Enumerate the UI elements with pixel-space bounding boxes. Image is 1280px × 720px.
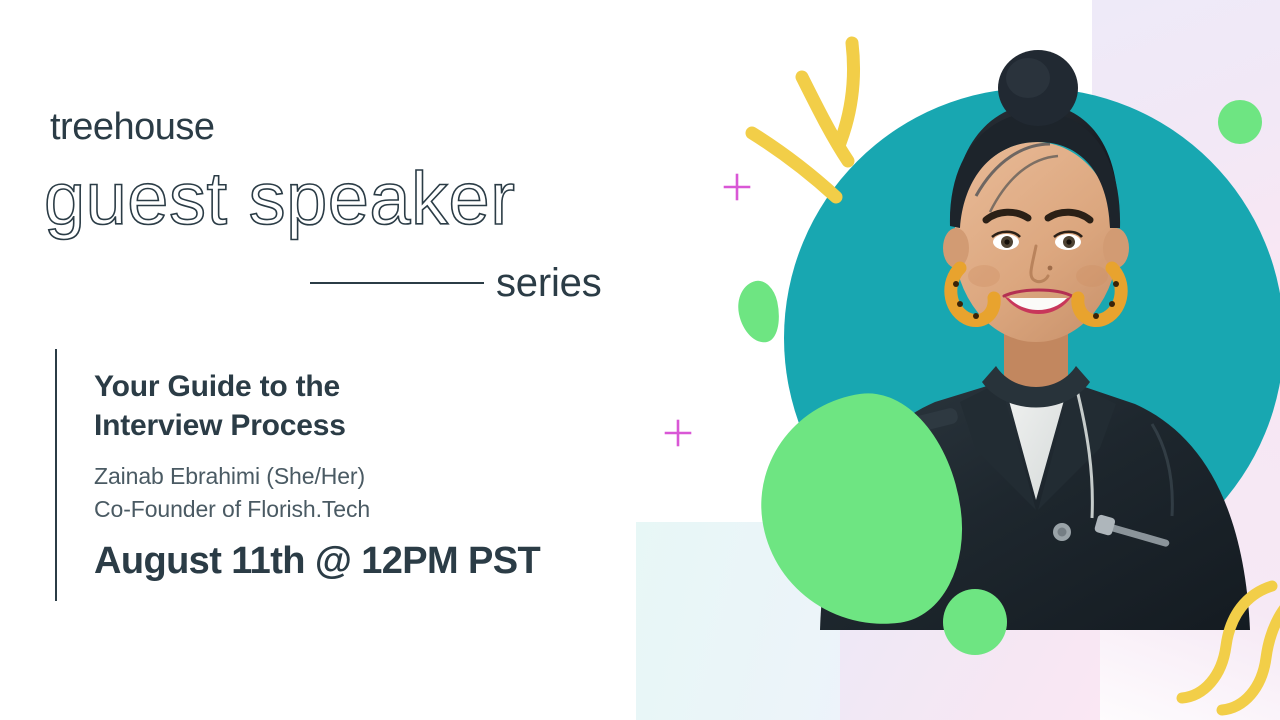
yellow-sparkle-strokes: [740, 25, 920, 215]
green-circle-bottom: [943, 589, 1007, 655]
speaker-name: Zainab Ebrahimi (She/Her): [94, 461, 635, 492]
event-details-block: Your Guide to the Interview Process Zain…: [55, 349, 635, 601]
event-details-inner: Your Guide to the Interview Process Zain…: [57, 349, 635, 583]
series-label: series: [496, 263, 602, 303]
plus-mark-lower: [663, 418, 693, 448]
treehouse-wordmark: treehouse: [50, 108, 215, 146]
plus-mark-upper: [722, 172, 752, 202]
green-blob-small: [733, 278, 785, 347]
series-row: series: [310, 258, 630, 308]
series-divider-rule: [310, 282, 484, 284]
green-circle-top-right: [1218, 100, 1262, 144]
text-panel: treehouse guest speaker series Your Guid…: [0, 0, 660, 720]
promo-slide: treehouse guest speaker series Your Guid…: [0, 0, 1280, 720]
speaker-role: Co-Founder of Florish.Tech: [94, 494, 635, 525]
talk-title: Your Guide to the Interview Process: [94, 367, 434, 445]
yellow-corner-squiggles: [1160, 580, 1280, 720]
headline-guest-speaker: guest speaker: [44, 158, 515, 241]
event-datetime: August 11th @ 12PM PST: [94, 541, 635, 583]
